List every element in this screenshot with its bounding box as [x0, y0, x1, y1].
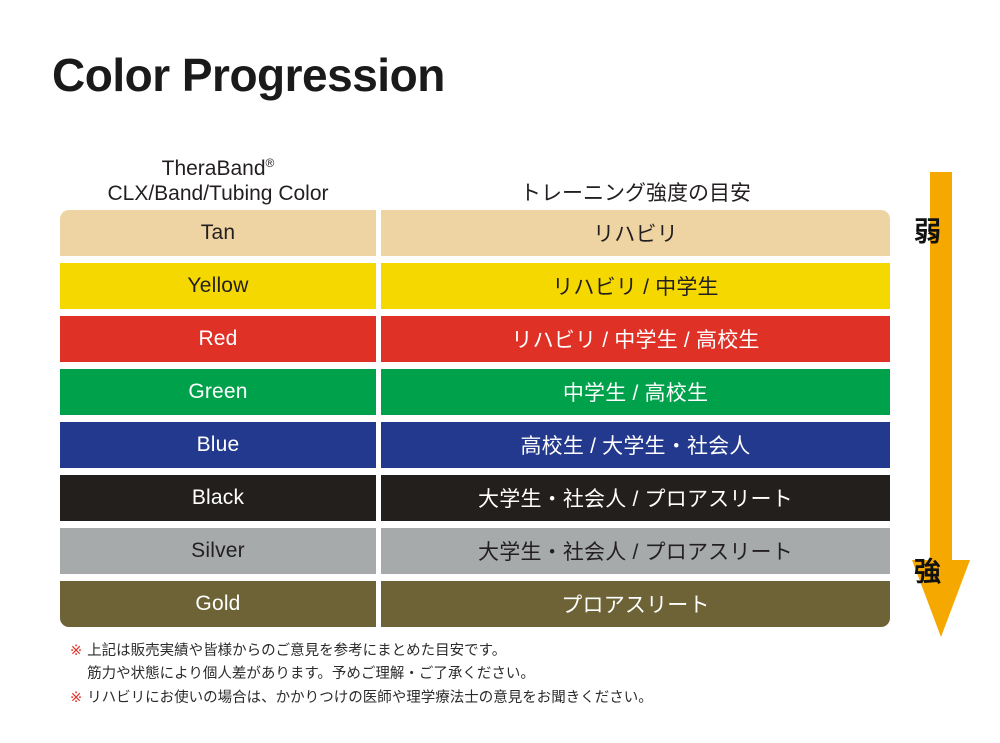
table-row: Yellowリハビリ / 中学生	[60, 263, 890, 309]
usage-cell: 中学生 / 高校生	[381, 369, 890, 415]
table-header-row: TheraBand® CLX/Band/Tubing Color トレーニング強…	[60, 145, 890, 210]
usage-cell: リハビリ	[381, 210, 890, 256]
column-header-usage: トレーニング強度の目安	[381, 182, 890, 210]
usage-cell: 大学生・社会人 / プロアスリート	[381, 475, 890, 521]
column-header-color-line1: TheraBand®	[60, 156, 376, 182]
usage-cell: 大学生・社会人 / プロアスリート	[381, 528, 890, 574]
footnote-text: 上記は販売実績や皆様からのご意見を参考にまとめた目安です。	[87, 640, 653, 663]
footnote-line: ※リハビリにお使いの場合は、かかりつけの医師や理学療法士の意見をお聞きください。	[70, 687, 653, 710]
footnote-text: 筋力や状態により個人差があります。予めご理解・ご了承ください。	[87, 663, 653, 686]
band-color-cell: Silver	[60, 528, 376, 574]
band-color-cell: Blue	[60, 422, 376, 468]
color-progression-table: TheraBand® CLX/Band/Tubing Color トレーニング強…	[60, 145, 890, 627]
band-color-cell: Yellow	[60, 263, 376, 309]
intensity-arrow: 弱 強	[908, 172, 974, 637]
table-row: Silver大学生・社会人 / プロアスリート	[60, 528, 890, 574]
usage-cell: リハビリ / 中学生 / 高校生	[381, 316, 890, 362]
table-row: Black大学生・社会人 / プロアスリート	[60, 475, 890, 521]
band-color-cell: Tan	[60, 210, 376, 256]
band-color-cell: Green	[60, 369, 376, 415]
table-row: Redリハビリ / 中学生 / 高校生	[60, 316, 890, 362]
table-row: Goldプロアスリート	[60, 581, 890, 627]
footnote-marker-icon: ※	[70, 687, 82, 710]
theraband-brand-text: TheraBand	[162, 157, 266, 180]
table-row: Green中学生 / 高校生	[60, 369, 890, 415]
registered-trademark-icon: ®	[266, 156, 275, 170]
column-header-color: TheraBand® CLX/Band/Tubing Color	[60, 156, 376, 210]
footnote-text: リハビリにお使いの場合は、かかりつけの医師や理学療法士の意見をお聞きください。	[87, 687, 653, 710]
table-row: Blue高校生 / 大学生・社会人	[60, 422, 890, 468]
band-color-cell: Gold	[60, 581, 376, 627]
arrow-label-weak: 弱	[914, 210, 941, 249]
band-color-cell: Black	[60, 475, 376, 521]
usage-cell: リハビリ / 中学生	[381, 263, 890, 309]
footnotes: ※上記は販売実績や皆様からのご意見を参考にまとめた目安です。※筋力や状態により個…	[70, 640, 653, 710]
usage-cell: プロアスリート	[381, 581, 890, 627]
footnote-line: ※上記は販売実績や皆様からのご意見を参考にまとめた目安です。	[70, 640, 653, 663]
table-row: Tanリハビリ	[60, 210, 890, 256]
band-color-cell: Red	[60, 316, 376, 362]
footnote-marker-icon: ※	[70, 640, 82, 663]
table-body: TanリハビリYellowリハビリ / 中学生Redリハビリ / 中学生 / 高…	[60, 210, 890, 627]
column-header-color-line2: CLX/Band/Tubing Color	[60, 182, 376, 207]
usage-cell: 高校生 / 大学生・社会人	[381, 422, 890, 468]
footnote-line: ※筋力や状態により個人差があります。予めご理解・ご了承ください。	[70, 663, 653, 686]
arrow-label-strong: 強	[914, 550, 941, 589]
page-title: Color Progression	[52, 50, 445, 101]
